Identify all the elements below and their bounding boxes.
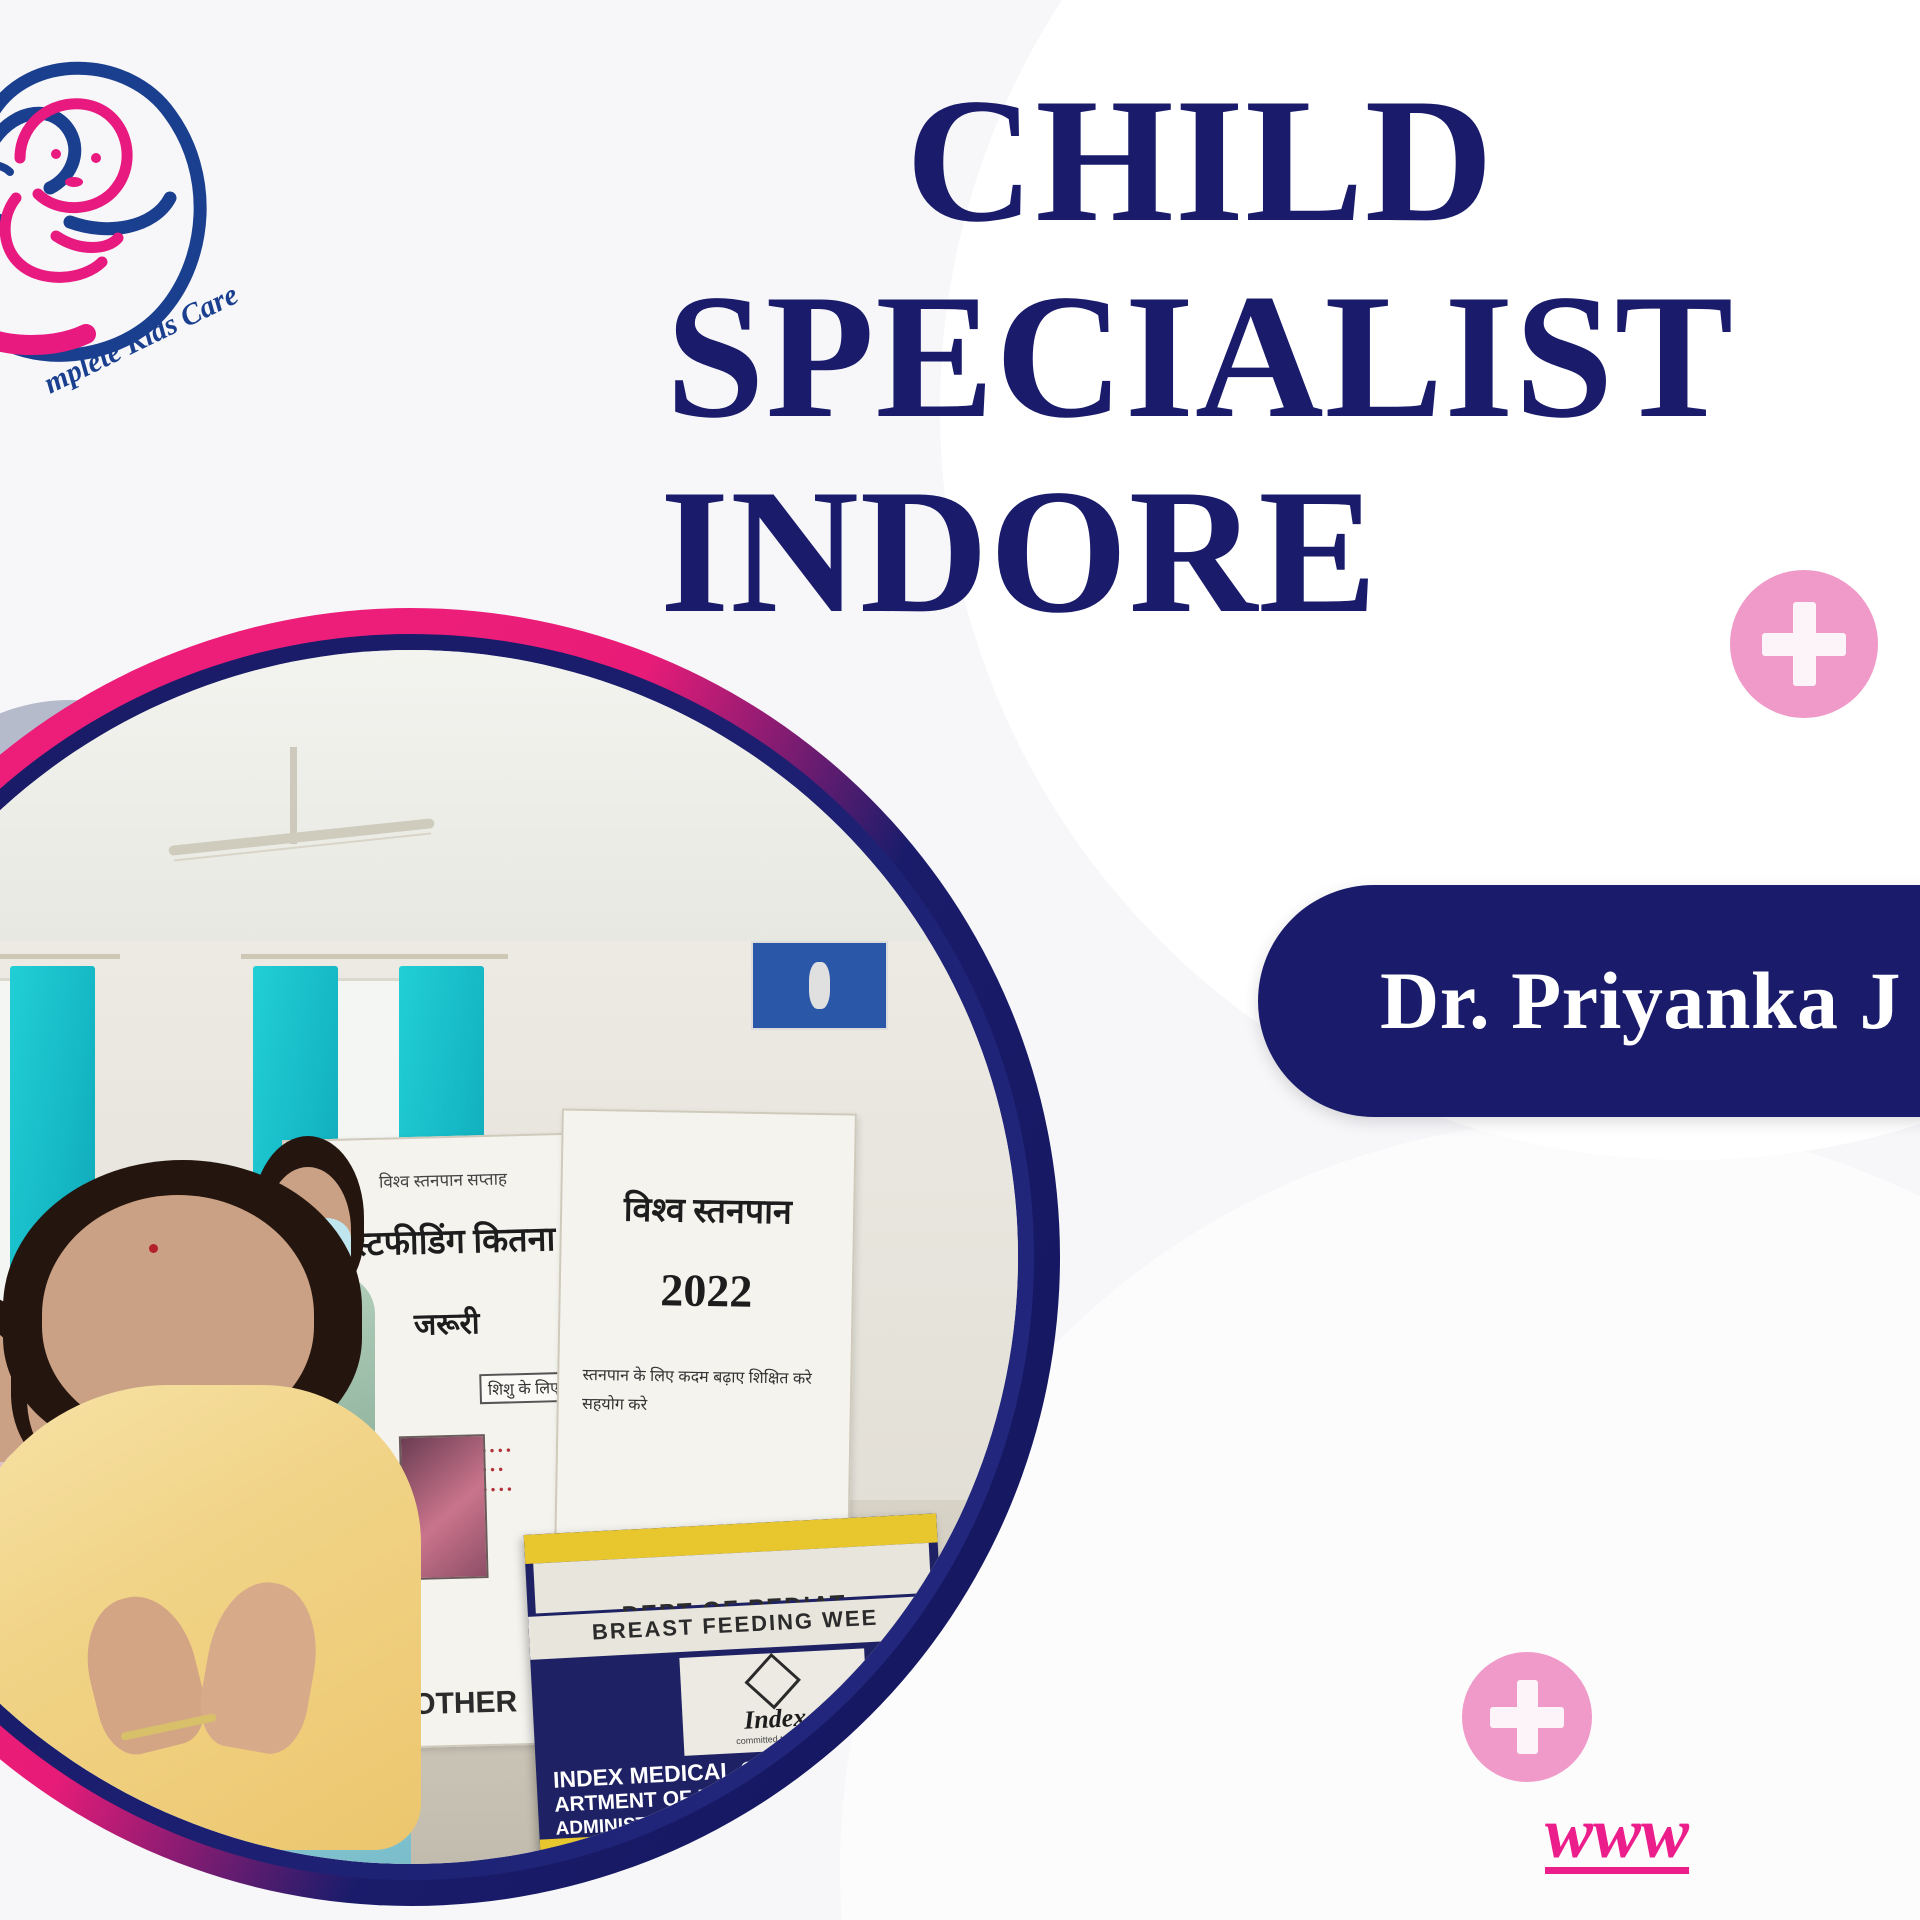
poster-canvas: mplete Kids Care CHILD SPECIALIST INDORE bbox=[0, 0, 1920, 1920]
poster-title: विश्व स्तनपान bbox=[579, 1184, 836, 1234]
dupatta bbox=[0, 1385, 421, 1850]
poster-body: स्तनपान के लिए कदम बढ़ाए शिक्षित करे सहय… bbox=[581, 1362, 827, 1424]
photo-inner-ring: विश्व स्तनपान सप्ताह ब्रेस्टफीडिंग कितना… bbox=[0, 634, 1034, 1880]
complete-kids-care-logo: mplete Kids Care bbox=[0, 22, 288, 422]
plus-bar-vertical bbox=[1793, 602, 1816, 686]
ceiling bbox=[0, 650, 1018, 978]
website-link[interactable]: www bbox=[1545, 1792, 1689, 1875]
doctor-photo-frame: विश्व स्तनपान सप्ताह ब्रेस्टफीडिंग कितना… bbox=[0, 608, 1060, 1906]
person-doctor bbox=[0, 1160, 460, 1864]
curtain-rod bbox=[0, 954, 120, 959]
fan-rod bbox=[290, 747, 297, 844]
headline-line-3: INDORE bbox=[540, 461, 1860, 643]
poster-year: 2022 bbox=[577, 1262, 834, 1319]
doctor-photo: विश्व स्तनपान सप्ताह ब्रेस्टफीडिंग कितना… bbox=[0, 650, 1018, 1864]
headline-line-1: CHILD bbox=[540, 70, 1860, 252]
doctor-name-badge: Dr. Priyanka J bbox=[1258, 885, 1920, 1117]
doctor-name-text: Dr. Priyanka J bbox=[1258, 954, 1901, 1048]
headline-line-2: SPECIALIST bbox=[540, 266, 1860, 448]
index-diamond-icon bbox=[745, 1653, 801, 1709]
page-title: CHILD SPECIALIST INDORE bbox=[540, 70, 1860, 643]
hospital-ward-scene: विश्व स्तनपान सप्ताह ब्रेस्टफीडिंग कितना… bbox=[0, 650, 1018, 1864]
event-banner: DEPT OF PEDIAT BREAST FEEDING WEE Index … bbox=[524, 1514, 953, 1863]
plus-icon-bottom bbox=[1462, 1652, 1592, 1782]
index-logo-card: Index committed to quality bbox=[679, 1649, 870, 1757]
plus-icon-top-right bbox=[1730, 570, 1878, 718]
wall-sign-glyph bbox=[809, 962, 830, 1009]
poster-box-right: शिशु के लिए bbox=[479, 1371, 567, 1403]
plus-bar-vertical bbox=[1517, 1680, 1538, 1754]
wall-sign bbox=[751, 941, 889, 1030]
curtain-rod bbox=[241, 954, 508, 959]
